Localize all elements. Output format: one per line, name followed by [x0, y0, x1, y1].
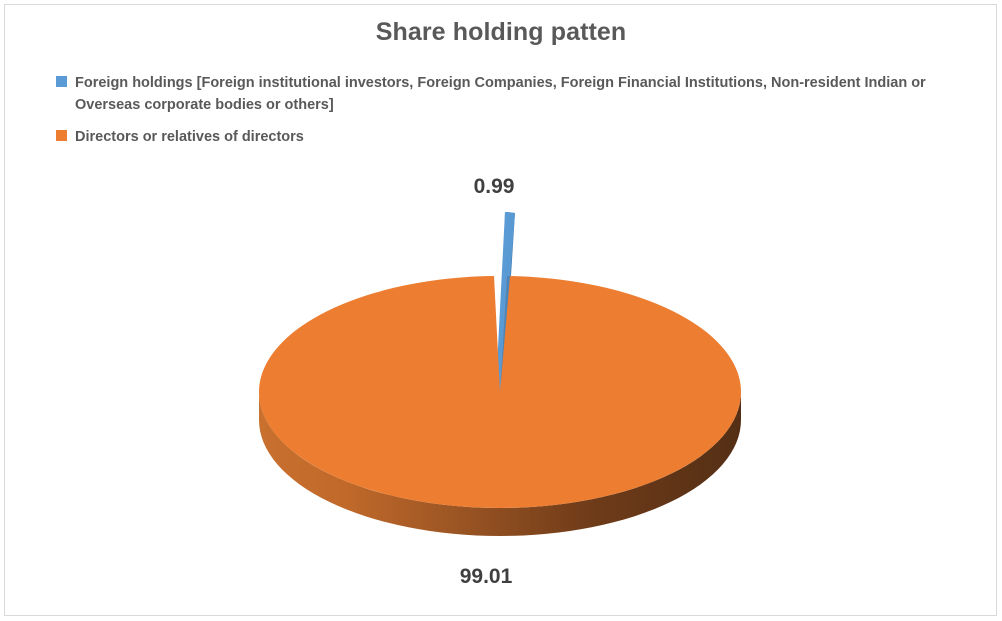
- chart-container: Share holding patten Foreign holdings [F…: [0, 0, 1002, 621]
- data-label-foreign-holdings: 0.99: [474, 175, 515, 199]
- pie-chart-svg: [0, 0, 1002, 621]
- data-label-directors: 99.01: [460, 565, 513, 589]
- pie-plot-area: 0.99 99.01: [0, 0, 1002, 621]
